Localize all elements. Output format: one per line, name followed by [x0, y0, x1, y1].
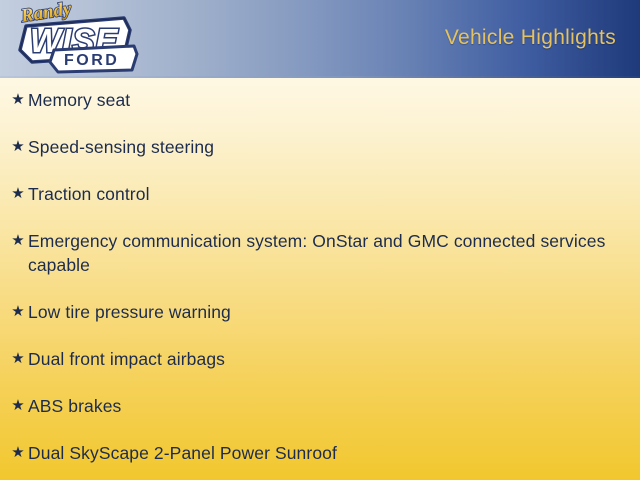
list-item: ★ Speed-sensing steering — [0, 135, 640, 159]
highlight-label: Traction control — [28, 182, 626, 206]
highlight-label: Emergency communication system: OnStar a… — [28, 229, 626, 277]
star-bullet-icon: ★ — [8, 300, 28, 324]
vehicle-highlights-slide: WISE Randy FORD Vehicle Highlights ★ Mem… — [0, 0, 640, 480]
star-bullet-icon: ★ — [8, 441, 28, 465]
highlight-label: Dual front impact airbags — [28, 347, 626, 371]
star-bullet-icon: ★ — [8, 88, 28, 112]
highlight-label: ABS brakes — [28, 394, 626, 418]
list-item: ★ Low tire pressure warning — [0, 300, 640, 324]
star-bullet-icon: ★ — [8, 135, 28, 159]
highlight-label: Low tire pressure warning — [28, 300, 626, 324]
star-bullet-icon: ★ — [8, 229, 28, 253]
star-bullet-icon: ★ — [8, 347, 28, 371]
highlight-label: Dual SkyScape 2-Panel Power Sunroof — [28, 441, 626, 465]
highlights-list: ★ Memory seat ★ Speed-sensing steering ★… — [0, 88, 640, 480]
star-bullet-icon: ★ — [8, 182, 28, 206]
list-item: ★ Traction control — [0, 182, 640, 206]
list-item: ★ ABS brakes — [0, 394, 640, 418]
highlight-label: Speed-sensing steering — [28, 135, 626, 159]
star-bullet-icon: ★ — [8, 394, 28, 418]
list-item: ★ Memory seat — [0, 88, 640, 112]
list-item: ★ Dual SkyScape 2-Panel Power Sunroof — [0, 441, 640, 465]
list-item: ★ Emergency communication system: OnStar… — [0, 229, 640, 277]
svg-text:FORD: FORD — [64, 52, 119, 69]
list-item: ★ Dual front impact airbags — [0, 347, 640, 371]
highlight-label: Memory seat — [28, 88, 626, 112]
dealer-logo: WISE Randy FORD — [6, 0, 146, 78]
randy-wise-ford-logo-icon: WISE Randy FORD — [6, 0, 146, 78]
page-title: Vehicle Highlights — [445, 26, 616, 50]
